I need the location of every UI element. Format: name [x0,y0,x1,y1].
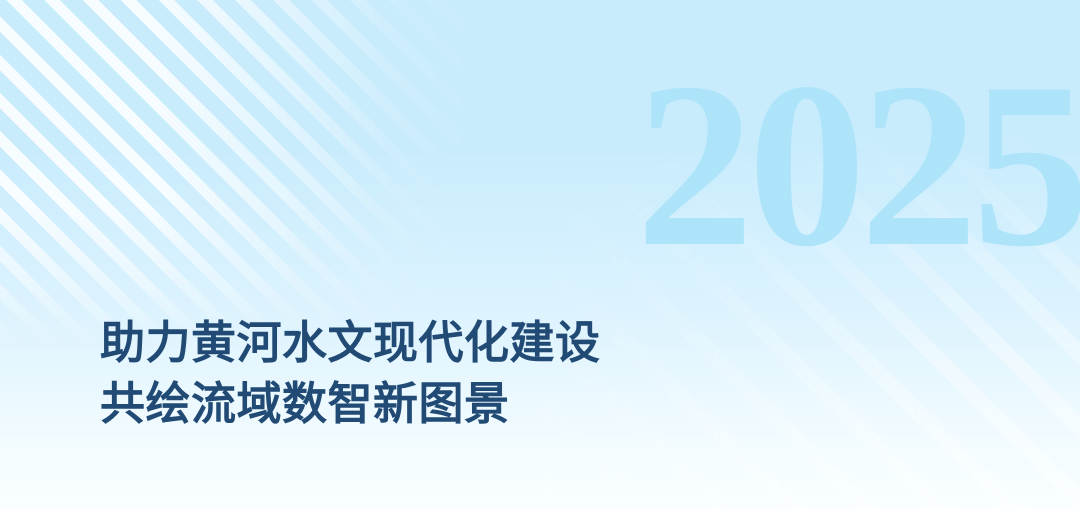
promotional-banner: 2025 助力黄河水文现代化建设 共绘流域数智新图景 [0,0,1080,510]
year-watermark: 2025 [636,56,1016,276]
headline-line-2: 共绘流域数智新图景 [100,373,601,434]
headline-line-1: 助力黄河水文现代化建设 [100,312,601,373]
headline: 助力黄河水文现代化建设 共绘流域数智新图景 [100,312,601,434]
